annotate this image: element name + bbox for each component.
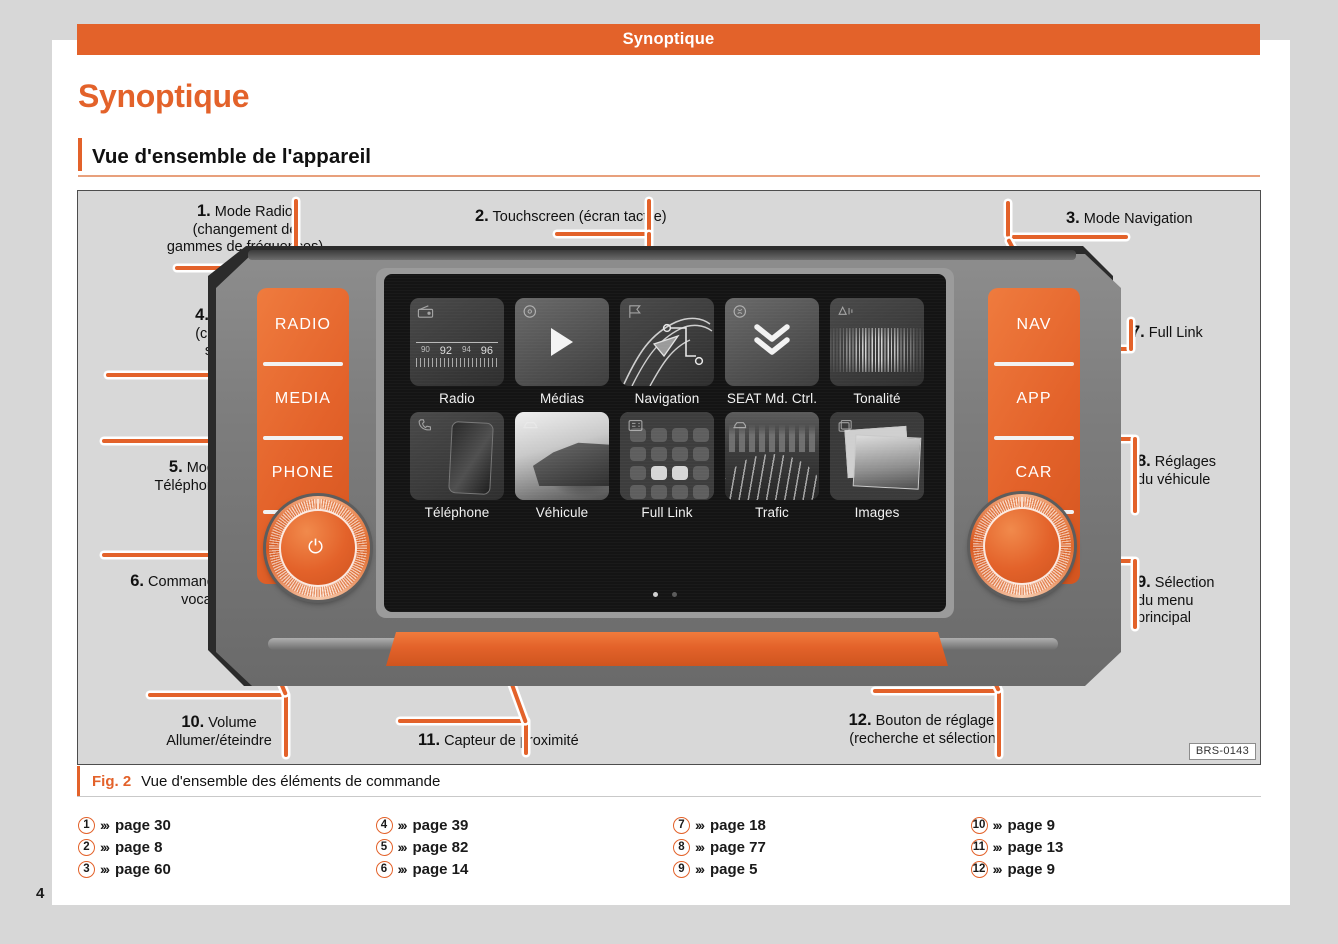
tile-navigation-label: Navigation (620, 391, 714, 406)
callout-12-number: 12. (849, 711, 872, 729)
tile-seat-md-ctrl[interactable]: SEAT Md. Ctrl. (725, 298, 819, 406)
tile-vehicule[interactable]: Véhicule (515, 412, 609, 520)
reference-page-label: page 5 (710, 861, 758, 878)
reference-number-badge: 6 (376, 861, 393, 878)
callout-9-line3: principal (1137, 610, 1191, 626)
tile-media-label: Médias (515, 391, 609, 406)
callout-10-line1: Volume (208, 715, 256, 731)
reference-number-badge: 5 (376, 839, 393, 856)
reference-column-3: 7›››page 188›››page 779›››page 5 (673, 815, 971, 879)
app-dot (693, 466, 709, 480)
callout-3-line1: Mode Navigation (1084, 211, 1193, 227)
reference-number-badge: 8 (673, 839, 690, 856)
selector-knob-face (983, 507, 1061, 585)
app-dot-lit (672, 466, 688, 480)
navigation-map-art (620, 298, 714, 386)
reference-page-label: page 77 (710, 839, 766, 856)
button-radio-label: RADIO (275, 316, 331, 334)
callout-6: 6. Commande vocale (78, 571, 223, 609)
reference-page-label: page 14 (413, 861, 469, 878)
callout-4-number: 4. (195, 306, 209, 324)
reference-item[interactable]: 10›››page 9 (971, 815, 1269, 835)
reference-page-label: page 60 (115, 861, 171, 878)
leader-line-2-v (647, 199, 651, 235)
traffic-car-icon (732, 418, 749, 433)
reference-arrow-icon: ››› (100, 861, 108, 877)
reference-arrow-icon: ››› (695, 839, 703, 855)
reference-page-label: page 18 (710, 817, 766, 834)
device-top-strip (248, 250, 1076, 260)
leader-line-11-h (398, 719, 528, 723)
reference-number-badge: 2 (78, 839, 95, 856)
leader-line-3-h (1008, 235, 1128, 239)
callout-12: 12. Bouton de réglages (recherche et sél… (794, 710, 1056, 748)
button-nav[interactable]: NAV (988, 288, 1080, 362)
leader-line-8-v (1133, 437, 1137, 513)
app-dot (630, 466, 646, 480)
app-dot (651, 485, 667, 499)
running-header: Synoptique (77, 24, 1260, 55)
callout-8-number: 8. (1137, 452, 1151, 470)
callout-5: 5. Mode Téléphone (78, 457, 223, 495)
callout-9-line1: Sélection (1155, 575, 1215, 591)
figure-caption: Fig. 2 Vue d'ensemble des éléments de co… (77, 766, 1261, 796)
callout-11-line1: Capteur de proximité (444, 733, 579, 749)
settings-selector-knob[interactable] (970, 494, 1074, 598)
audio-waveform-art (830, 328, 924, 372)
app-dot (651, 447, 667, 461)
page-reference-list: 1›››page 302›››page 83›››page 604›››page… (78, 815, 1268, 879)
callout-6-number: 6. (130, 572, 144, 590)
full-link-icon (627, 418, 644, 433)
reference-page-label: page 8 (115, 839, 163, 856)
touchscreen[interactable]: 90 92 94 96 Radio (384, 274, 946, 612)
callout-3: 3. Mode Navigation (1066, 208, 1261, 229)
callout-7: 7. Full Link (1131, 322, 1261, 343)
reference-arrow-icon: ››› (695, 817, 703, 833)
app-dot-lit (651, 466, 667, 480)
reference-arrow-icon: ››› (993, 861, 1001, 877)
reference-number-badge: 12 (971, 861, 988, 878)
callout-1-number: 1. (197, 202, 211, 220)
callout-7-number: 7. (1131, 323, 1145, 341)
reference-item[interactable]: 2›››page 8 (78, 837, 376, 857)
callout-8-line1: Réglages (1155, 454, 1216, 470)
page-dot-inactive (672, 592, 677, 597)
tile-telephone-art (410, 412, 504, 500)
callout-10-number: 10. (181, 713, 204, 731)
images-icon (837, 418, 854, 433)
reference-item[interactable]: 3›››page 60 (78, 859, 376, 879)
app-grid-art (630, 428, 706, 499)
phone-handset-icon (417, 418, 434, 433)
reference-number-badge: 3 (78, 861, 95, 878)
section-heading: Vue d'ensemble de l'appareil (78, 138, 1260, 176)
tile-vehicule-art (515, 412, 609, 500)
leader-line-2-h (555, 232, 651, 236)
section-heading-label: Vue d'ensemble de l'appareil (92, 145, 371, 169)
reference-page-label: page 9 (1008, 817, 1056, 834)
tile-radio-label: Radio (410, 391, 504, 406)
tile-tonalite[interactable]: Tonalité (830, 298, 924, 406)
button-app[interactable]: APP (988, 362, 1080, 436)
screen-page-indicator[interactable] (384, 584, 946, 602)
reference-column-4: 10›››page 911›››page 1312›››page 9 (971, 815, 1269, 879)
leader-line-9-v (1133, 559, 1137, 629)
reference-number-badge: 10 (971, 817, 988, 834)
tile-media[interactable]: Médias (515, 298, 609, 406)
button-phone-label: PHONE (272, 464, 334, 482)
tile-radio-art: 90 92 94 96 (410, 298, 504, 386)
radio-dial-numbers: 90 92 94 96 (416, 343, 498, 357)
reference-arrow-icon: ››› (100, 839, 108, 855)
volume-knob-face: ⏻ (279, 509, 357, 587)
reference-item[interactable]: 8›››page 77 (673, 837, 971, 857)
button-radio[interactable]: RADIO (257, 288, 349, 362)
tile-tonalite-art (830, 298, 924, 386)
reference-page-label: page 9 (1008, 861, 1056, 878)
figure-caption-text: Vue d'ensemble des éléments de commande (141, 773, 440, 790)
callout-1-line1: Mode Radio (215, 204, 293, 220)
app-dot (693, 485, 709, 499)
reference-item[interactable]: 12›››page 9 (971, 859, 1269, 879)
tile-tonalite-label: Tonalité (830, 391, 924, 406)
tile-images-label: Images (830, 505, 924, 520)
reference-item[interactable]: 6›››page 14 (376, 859, 674, 879)
app-dot (693, 447, 709, 461)
reference-arrow-icon: ››› (695, 861, 703, 877)
reference-column-1: 1›››page 302›››page 83›››page 60 (78, 815, 376, 879)
app-dot (630, 485, 646, 499)
button-media-label: MEDIA (275, 390, 331, 408)
callout-10: 10. Volume Allumer/éteindre (106, 712, 332, 750)
reference-item[interactable]: 9›››page 5 (673, 859, 971, 879)
app-dot (672, 485, 688, 499)
radio-icon (417, 304, 434, 319)
tile-vehicule-label: Véhicule (515, 505, 609, 520)
app-dot (651, 428, 667, 442)
tile-full-link-label: Full Link (620, 505, 714, 520)
callout-2-number: 2. (475, 207, 489, 225)
figure-caption-divider (77, 796, 1261, 797)
figure-frame: 1. Mode Radio (changement de gammes de f… (77, 190, 1261, 765)
play-icon (551, 328, 573, 356)
tile-navigation[interactable]: Navigation (620, 298, 714, 406)
infotainment-unit-illustration: RADIO MEDIA PHONE VOICE NAV APP CAR (208, 246, 1128, 701)
power-icon: ⏻ (308, 538, 328, 558)
reference-page-label: page 13 (1008, 839, 1064, 856)
button-nav-label: NAV (1016, 316, 1051, 334)
callout-12-line1: Bouton de réglages (876, 713, 1002, 729)
leader-line-10-v (284, 693, 288, 757)
app-dot (672, 428, 688, 442)
photo-front (853, 434, 922, 489)
reference-page-label: page 82 (413, 839, 469, 856)
callout-12-line2: (recherche et sélection) (849, 731, 1001, 747)
page-dot-active (653, 592, 658, 597)
callout-2: 2. Touchscreen (écran tactile) (475, 206, 775, 227)
dial-num-94: 94 (462, 345, 471, 357)
reference-number-badge: 7 (673, 817, 690, 834)
tile-seat-md-ctrl-label: SEAT Md. Ctrl. (725, 391, 819, 406)
reference-number-badge: 11 (971, 839, 988, 856)
reference-item[interactable]: 5›››page 82 (376, 837, 674, 857)
reference-item[interactable]: 4›››page 39 (376, 815, 674, 835)
callout-1-line2: (changement de (193, 222, 298, 238)
section-accent-rule (78, 138, 82, 171)
reference-item[interactable]: 7›››page 18 (673, 815, 971, 835)
callout-8: 8. Réglages du véhicule (1137, 451, 1261, 489)
app-dot (672, 447, 688, 461)
reference-column-2: 4›››page 395›››page 826›››page 14 (376, 815, 674, 879)
figure-image-code: BRS-0143 (1189, 743, 1256, 760)
car-icon (522, 418, 539, 433)
reference-number-badge: 4 (376, 817, 393, 834)
reference-arrow-icon: ››› (398, 861, 406, 877)
button-media[interactable]: MEDIA (257, 362, 349, 436)
button-car-label: CAR (1015, 464, 1052, 482)
radio-frequency-dial: 90 92 94 96 (416, 342, 498, 376)
reference-page-label: page 39 (413, 817, 469, 834)
callout-11: 11. Capteur de proximité (418, 730, 698, 751)
reference-item[interactable]: 1›››page 30 (78, 815, 376, 835)
leader-line-3-v (1006, 201, 1010, 237)
road-art (725, 454, 819, 500)
tile-media-art (515, 298, 609, 386)
section-divider (78, 175, 1260, 177)
sound-settings-icon (732, 304, 749, 319)
callout-9-line2: du menu (1137, 593, 1193, 609)
callout-7-line1: Full Link (1149, 325, 1203, 341)
volume-power-knob[interactable]: ⏻ (266, 496, 370, 600)
dial-num-92: 92 (440, 345, 452, 357)
app-dot (630, 447, 646, 461)
dial-num-96: 96 (481, 345, 493, 357)
callout-5-number: 5. (169, 458, 183, 476)
page-number: 4 (36, 885, 44, 902)
reference-item[interactable]: 11›››page 13 (971, 837, 1269, 857)
tile-images-art (830, 412, 924, 500)
callout-9: 9. Sélection du menu principal (1137, 572, 1261, 628)
reference-arrow-icon: ››› (993, 839, 1001, 855)
proximity-sensor-strip (386, 632, 948, 666)
tile-full-link-art (620, 412, 714, 500)
dial-num-90: 90 (421, 345, 430, 357)
figure-caption-number: Fig. 2 (92, 773, 131, 790)
reference-arrow-icon: ››› (398, 817, 406, 833)
tile-images[interactable]: Images (830, 412, 924, 520)
button-app-label: APP (1016, 390, 1051, 408)
page-title: Synoptique (78, 78, 249, 115)
tile-navigation-art (620, 298, 714, 386)
reference-page-label: page 30 (115, 817, 171, 834)
tile-seat-md-ctrl-art (725, 298, 819, 386)
home-tile-grid: 90 92 94 96 Radio (410, 298, 924, 520)
media-disc-icon (522, 304, 539, 319)
reference-arrow-icon: ››› (398, 839, 406, 855)
reference-arrow-icon: ››› (993, 817, 1001, 833)
leader-line-7-v (1129, 319, 1133, 351)
double-chevron-icon (752, 323, 792, 357)
reference-number-badge: 9 (673, 861, 690, 878)
tile-telephone-label: Téléphone (410, 505, 504, 520)
callout-10-line2: Allumer/éteindre (166, 733, 272, 749)
reference-arrow-icon: ››› (100, 817, 108, 833)
tile-trafic[interactable]: Trafic (725, 412, 819, 520)
radio-dial-ticks (416, 358, 498, 367)
equalizer-icon (837, 304, 854, 319)
tile-trafic-label: Trafic (725, 505, 819, 520)
leader-line-11-v (524, 719, 528, 755)
callout-9-number: 9. (1137, 573, 1151, 591)
tile-full-link[interactable]: Full Link (620, 412, 714, 520)
tile-radio[interactable]: 90 92 94 96 Radio (410, 298, 504, 406)
callout-11-number: 11. (418, 731, 440, 749)
running-header-title: Synoptique (623, 30, 715, 49)
app-dot (693, 428, 709, 442)
callout-8-line2: du véhicule (1137, 472, 1210, 488)
callout-2-line1: Touchscreen (écran tactile) (493, 209, 667, 225)
reference-number-badge: 1 (78, 817, 95, 834)
tile-trafic-art (725, 412, 819, 500)
smartphone-art (448, 421, 494, 495)
callout-3-number: 3. (1066, 209, 1080, 227)
tile-telephone[interactable]: Téléphone (410, 412, 504, 520)
